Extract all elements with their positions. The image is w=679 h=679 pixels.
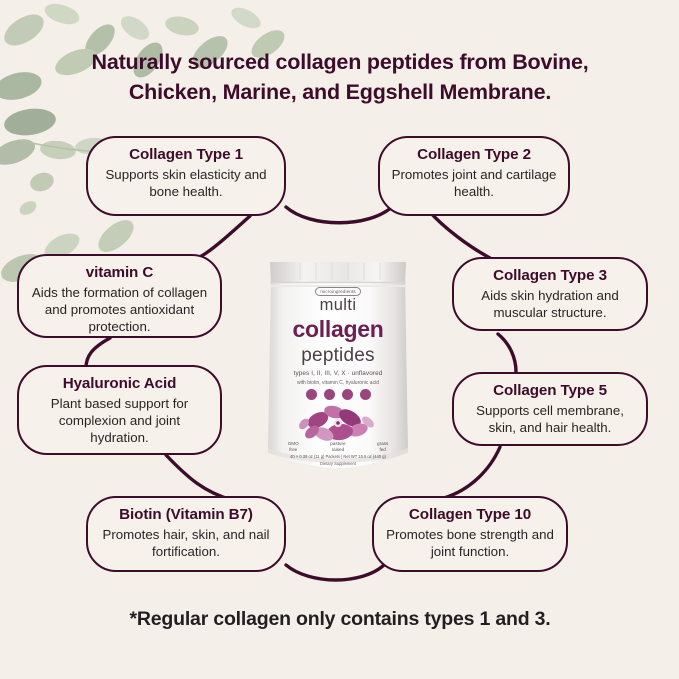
- callout-description: Promotes hair, skin, and nail fortificat…: [98, 527, 274, 561]
- callout-description: Aids skin hydration and muscular structu…: [464, 288, 636, 322]
- headline-line-1: Naturally sourced collagen peptides from…: [40, 48, 640, 78]
- callout-collagen-type-3: Collagen Type 3 Aids skin hydration and …: [452, 257, 648, 331]
- connector-top: [286, 207, 392, 223]
- connector-bottom: [286, 565, 384, 580]
- callout-title: Collagen Type 2: [390, 146, 558, 164]
- footnote: *Regular collagen only contains types 1 …: [40, 608, 640, 631]
- callout-collagen-type-10: Collagen Type 10 Promotes bone strength …: [372, 496, 568, 572]
- callout-vitamin-c: vitamin C Aids the formation of collagen…: [17, 254, 222, 338]
- callout-title: Collagen Type 5: [464, 382, 636, 400]
- product-pouch: microingredients multi collagen peptides…: [262, 252, 414, 474]
- callout-title: Collagen Type 10: [384, 506, 556, 524]
- connector-type10-type5: [444, 447, 500, 498]
- callout-title: Biotin (Vitamin B7): [98, 506, 274, 524]
- callout-collagen-type-5: Collagen Type 5 Supports cell membrane, …: [452, 372, 648, 446]
- callout-hyaluronic-acid: Hyaluronic Acid Plant based support for …: [17, 365, 222, 455]
- connector-type3-type2: [428, 210, 490, 258]
- callout-biotin: Biotin (Vitamin B7) Promotes hair, skin,…: [86, 496, 286, 572]
- callout-description: Plant based support for complexion and j…: [29, 396, 210, 446]
- callout-description: Supports skin elasticity and bone health…: [98, 167, 274, 201]
- callout-collagen-type-2: Collagen Type 2 Promotes joint and carti…: [378, 136, 570, 216]
- callout-title: vitamin C: [29, 264, 210, 282]
- callout-title: Collagen Type 1: [98, 146, 274, 164]
- callout-description: Promotes bone strength and joint functio…: [384, 527, 556, 561]
- callout-title: Hyaluronic Acid: [29, 375, 210, 393]
- connector-vitaminc-hyaluronic: [86, 338, 110, 368]
- collagen-infographic: Naturally sourced collagen peptides from…: [0, 0, 679, 679]
- page-title: Naturally sourced collagen peptides from…: [40, 48, 640, 107]
- callout-collagen-type-1: Collagen Type 1 Supports skin elasticity…: [86, 136, 286, 216]
- connector-type5-type3: [498, 334, 516, 372]
- callout-description: Supports cell membrane, skin, and hair h…: [464, 403, 636, 437]
- headline-line-2: Chicken, Marine, and Eggshell Membrane.: [40, 78, 640, 108]
- connector-hyaluronic-biotin: [166, 455, 232, 500]
- callout-description: Aids the formation of collagen and promo…: [29, 285, 210, 335]
- callout-description: Promotes joint and cartilage health.: [390, 167, 558, 201]
- callout-title: Collagen Type 3: [464, 267, 636, 285]
- pouch-shape-icon: [262, 252, 414, 474]
